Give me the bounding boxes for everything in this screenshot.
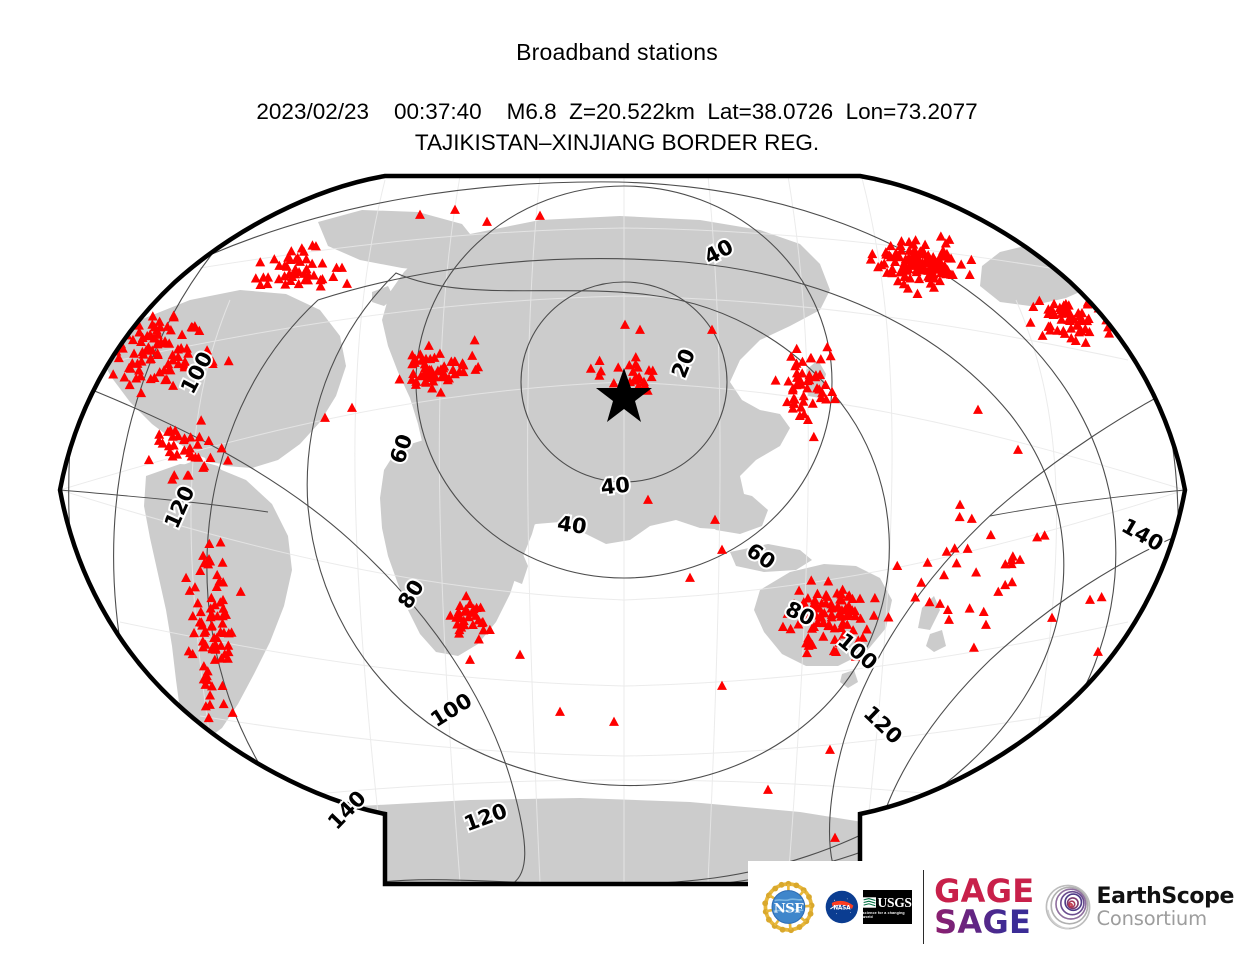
- gage-sage-logo: GAGE SAGE: [934, 876, 1034, 937]
- sage-wordmark: SAGE: [934, 907, 1034, 938]
- usgs-wave-icon: [863, 897, 876, 908]
- station-marker: [108, 328, 118, 337]
- figure-header: Broadband stations 2023/02/23 00:37:40 M…: [0, 0, 1234, 156]
- station-marker: [72, 351, 82, 360]
- page-title: Broadband stations: [0, 39, 1234, 66]
- world-map-panel: 2020404040404040606060608080808010010010…: [0, 160, 1234, 900]
- earthscope-name: EarthScope: [1096, 886, 1234, 908]
- earthscope-spiral-icon: [1044, 883, 1092, 931]
- nasa-logo-icon: NASA: [825, 884, 859, 930]
- station-marker: [78, 349, 88, 358]
- earthscope-logo: EarthScope Consortium: [1044, 883, 1234, 931]
- sponsor-logo-bar: NSF NASA USGS science for a changing wor…: [748, 861, 1234, 953]
- event-info-line: 2023/02/23 00:37:40 M6.8 Z=20.522km Lat=…: [0, 99, 1234, 125]
- station-marker: [121, 311, 131, 320]
- usgs-tagline: science for a changing world: [863, 911, 912, 919]
- station-marker: [192, 733, 202, 742]
- svg-text:NASA: NASA: [833, 906, 851, 912]
- event-region-label: TAJIKISTAN–XINJIANG BORDER REG.: [0, 130, 1234, 156]
- station-marker: [1090, 292, 1100, 301]
- contour-label-40: 40: [599, 473, 631, 500]
- world-map-svg: 2020404040404040606060608080808010010010…: [0, 160, 1234, 900]
- station-marker: [80, 342, 90, 351]
- logo-divider: [923, 870, 924, 944]
- station-marker: [87, 352, 97, 361]
- station-marker: [75, 339, 85, 348]
- station-marker: [133, 304, 143, 313]
- station-marker: [74, 346, 84, 355]
- contour-label-40: 40: [556, 511, 588, 539]
- earthscope-sub: Consortium: [1096, 909, 1234, 929]
- station-marker: [1108, 310, 1118, 319]
- usgs-wordmark: USGS: [878, 896, 912, 910]
- station-marker: [900, 847, 910, 856]
- station-marker: [97, 351, 107, 360]
- svg-text:NSF: NSF: [774, 901, 805, 916]
- nsf-logo-icon: NSF: [762, 871, 815, 943]
- usgs-logo-icon: USGS science for a changing world: [863, 890, 912, 924]
